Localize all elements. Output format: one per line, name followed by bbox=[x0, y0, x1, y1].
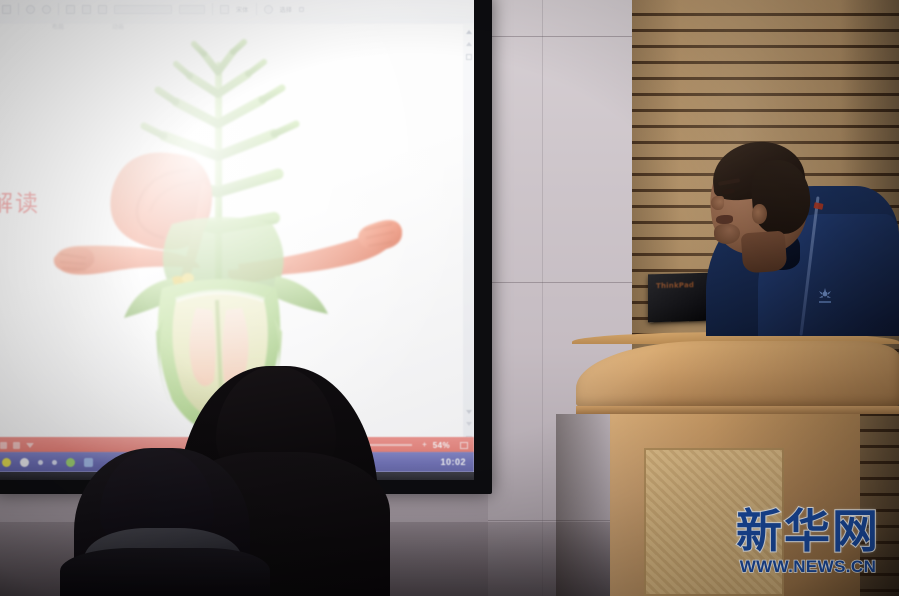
podium-side-shadow bbox=[556, 414, 612, 596]
format-painter-icon[interactable] bbox=[98, 5, 107, 14]
chevron-down-icon[interactable] bbox=[299, 7, 304, 12]
scroll-down-arrow-icon[interactable] bbox=[466, 422, 472, 426]
speaker-mouth bbox=[716, 215, 733, 224]
normal-view-icon[interactable] bbox=[0, 442, 7, 449]
taskbar-app-icon[interactable] bbox=[2, 458, 11, 467]
wall-seam bbox=[488, 36, 636, 37]
taskbar-app-icon[interactable] bbox=[84, 458, 93, 467]
taskbar-app-icon[interactable] bbox=[20, 458, 29, 467]
cut-icon[interactable] bbox=[66, 5, 75, 14]
audience-shoulders bbox=[60, 548, 270, 596]
slide-annotation-text: 解读 bbox=[0, 184, 40, 218]
laptop-brand-left-label: ThinkPad bbox=[656, 281, 694, 290]
scroll-down-arrow-icon[interactable] bbox=[466, 410, 472, 414]
undo-icon[interactable] bbox=[26, 5, 35, 14]
scroll-page-button[interactable] bbox=[466, 54, 472, 60]
save-icon[interactable] bbox=[2, 5, 11, 14]
ribbon-label-font: 宋体 bbox=[236, 5, 249, 14]
podium-lip bbox=[576, 406, 899, 414]
redo-icon[interactable] bbox=[42, 5, 51, 14]
jacket-emblem-logo bbox=[814, 286, 836, 308]
ribbon-label-select: 选择 bbox=[280, 5, 293, 14]
news-watermark: 新华网 WWW.NEWS.CN bbox=[722, 508, 894, 586]
font-name-field[interactable] bbox=[114, 5, 172, 14]
watermark-url-text: WWW.NEWS.CN bbox=[722, 557, 894, 577]
ribbon-label-animation: 动画 bbox=[112, 22, 124, 31]
ribbon-divider bbox=[18, 3, 19, 15]
speaker-nose bbox=[711, 196, 724, 210]
taskbar-app-icon[interactable] bbox=[38, 460, 43, 465]
ribbon-divider bbox=[58, 3, 59, 15]
scroll-up-arrow-icon[interactable] bbox=[466, 30, 472, 34]
zoom-level-label: 54% bbox=[433, 441, 450, 450]
taskbar-app-icon[interactable] bbox=[52, 460, 57, 465]
ribbon-divider bbox=[212, 3, 213, 15]
font-size-field[interactable] bbox=[179, 5, 205, 14]
taskbar-clock[interactable]: 10:02 bbox=[440, 457, 466, 467]
wall-vertical-seam bbox=[542, 0, 543, 596]
select-icon[interactable] bbox=[264, 5, 273, 14]
fit-to-window-icon[interactable] bbox=[460, 442, 468, 449]
copy-icon[interactable] bbox=[82, 5, 91, 14]
podium-front-panel bbox=[576, 341, 899, 409]
ribbon-label-layout: 布局 bbox=[52, 22, 64, 31]
scroll-up-arrow-icon[interactable] bbox=[466, 42, 472, 46]
sorter-view-icon[interactable] bbox=[13, 442, 20, 449]
watermark-logo-text: 新华网 bbox=[722, 508, 894, 554]
speaker-ear bbox=[752, 204, 767, 224]
ribbon-divider bbox=[256, 3, 257, 15]
text-color-icon[interactable] bbox=[220, 5, 229, 14]
zoom-in-button[interactable]: + bbox=[422, 441, 427, 449]
slideshow-icon[interactable] bbox=[26, 443, 34, 448]
slide-scrollbar[interactable] bbox=[463, 24, 474, 454]
wall-seam bbox=[488, 282, 636, 283]
speaker-neck bbox=[741, 231, 788, 274]
screenshot-root: 宋体 选择 布局 动画 bbox=[0, 0, 899, 596]
taskbar-app-icon[interactable] bbox=[66, 458, 75, 467]
flower-anatomy-diagram bbox=[52, 32, 402, 432]
